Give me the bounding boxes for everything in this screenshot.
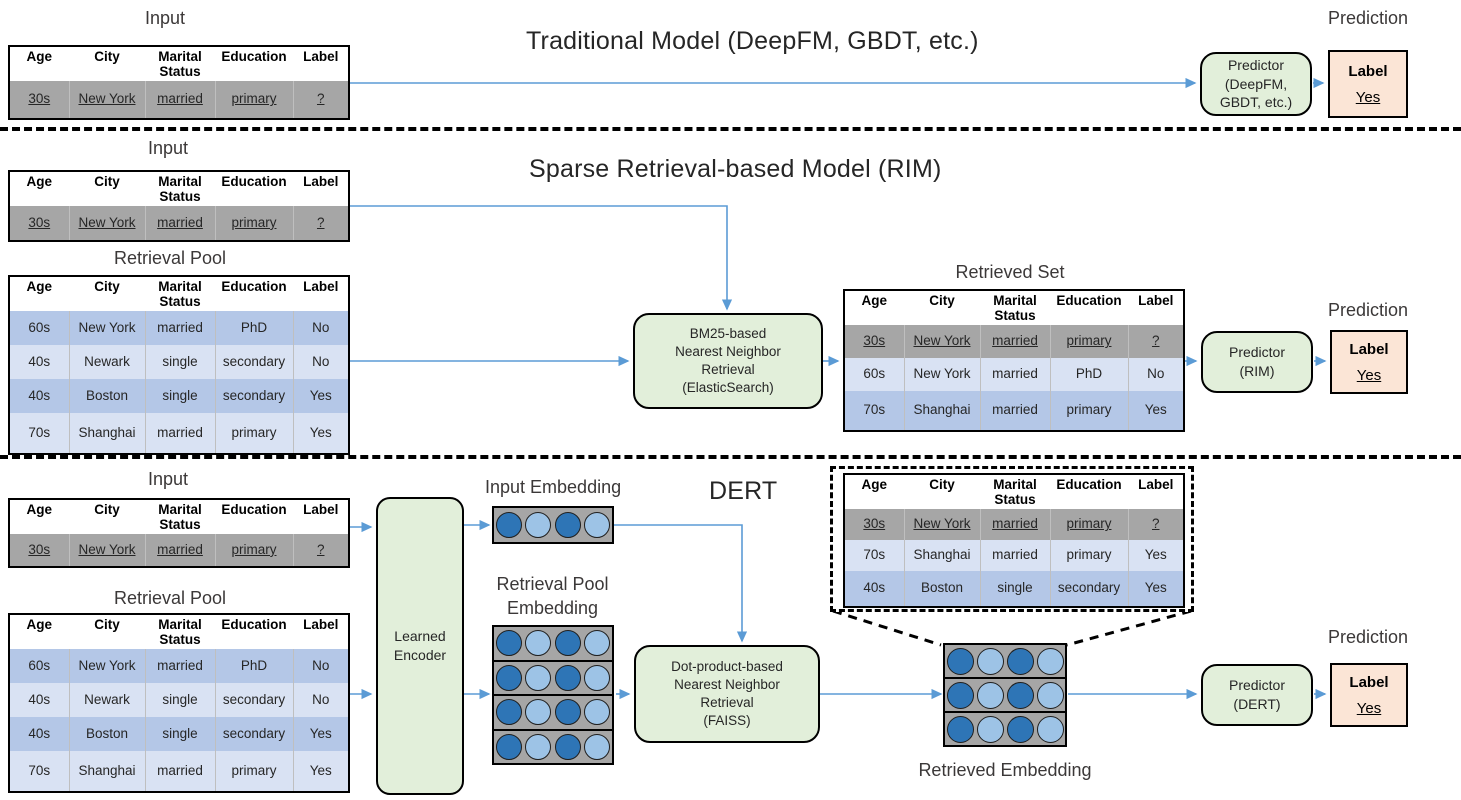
cell-age: 40s: [9, 379, 69, 413]
prediction-value: Yes: [1356, 89, 1380, 106]
cell-marital: single: [145, 345, 215, 379]
table-row: 40s Newark single secondary No: [9, 683, 349, 717]
cell-marital: single: [145, 717, 215, 751]
table-row: 40s Boston single secondary Yes: [844, 571, 1184, 607]
prediction-label-title: Label: [1348, 63, 1387, 80]
col-header-marital-status: MaritalStatus: [145, 171, 215, 206]
table-row: 70s Shanghai married primary Yes: [844, 391, 1184, 431]
col-header-marital-status: MaritalStatus: [145, 276, 215, 311]
embedding-dot-dark: [496, 734, 522, 760]
embedding-dot-dark: [1007, 716, 1034, 743]
caption-retrieved-set: Retrieved Set: [940, 262, 1080, 283]
embedding-dot-dark: [1007, 648, 1034, 675]
col-header-city: City: [69, 46, 145, 81]
embedding-dot-dark: [1007, 682, 1034, 709]
col-header-city: City: [904, 474, 980, 509]
cell-marital: married: [980, 540, 1050, 571]
cell-city: New York: [69, 534, 145, 567]
retriever-line4: (FAISS): [703, 713, 750, 728]
cell-city: New York: [904, 358, 980, 391]
cell-city: New York: [69, 311, 145, 345]
cell-marital: single: [145, 683, 215, 717]
section-divider-1: [0, 127, 1461, 131]
predictor-line2: (DERT): [1233, 696, 1280, 712]
encoder-line2: Encoder: [394, 647, 446, 663]
encoder-line1: Learned: [394, 628, 445, 644]
cell-education: PhD: [1050, 358, 1128, 391]
embedding-dot-light: [584, 665, 610, 691]
col-header-education: Education: [215, 614, 293, 649]
cell-marital: married: [145, 206, 215, 241]
embedding-dot-dark: [555, 512, 581, 538]
cell-label: ?: [293, 206, 349, 241]
cell-label: Yes: [293, 379, 349, 413]
cell-education: secondary: [215, 717, 293, 751]
cell-education: secondary: [215, 683, 293, 717]
pool-embedding-line1: Retrieval Pool: [485, 572, 620, 596]
cell-label: Yes: [1128, 391, 1184, 431]
embedding-dot-dark: [947, 716, 974, 743]
cell-label: No: [293, 345, 349, 379]
cell-education: primary: [1050, 325, 1128, 358]
prediction-label-title: Label: [1349, 674, 1388, 691]
cell-city: Shanghai: [904, 391, 980, 431]
cell-label: No: [293, 683, 349, 717]
cell-age: 30s: [9, 206, 69, 241]
retriever-line2: Nearest Neighbor: [675, 344, 781, 359]
retrieval-pool-embedding-block: [492, 625, 614, 765]
cell-label: Yes: [1128, 571, 1184, 607]
embedding-dot-dark: [947, 648, 974, 675]
retriever-line1: BM25-based: [690, 326, 767, 341]
cell-education: primary: [215, 534, 293, 567]
caption-prediction-dert: Prediction: [1318, 627, 1418, 648]
prediction-value: Yes: [1357, 700, 1381, 717]
cell-age: 40s: [844, 571, 904, 607]
retriever-line4: (ElasticSearch): [682, 380, 774, 395]
col-header-label: Label: [293, 171, 349, 206]
caption-prediction-traditional: Prediction: [1318, 8, 1418, 29]
cell-city: Boston: [69, 379, 145, 413]
col-header-label: Label: [293, 614, 349, 649]
table-row-query: 30s New York married primary ?: [9, 534, 349, 567]
embedding-dot-dark: [947, 682, 974, 709]
cell-education: primary: [1050, 540, 1128, 571]
col-header-age: Age: [9, 614, 69, 649]
embedding-row: [945, 645, 1065, 679]
table-row-query: 30s New York married primary ?: [9, 206, 349, 241]
retrieved-embedding-block: [943, 643, 1067, 747]
embedding-dot-light: [584, 512, 610, 538]
embedding-dot-light: [977, 716, 1004, 743]
embedding-row: [945, 713, 1065, 745]
caption-input-dert: Input: [133, 469, 203, 490]
embedding-dot-light: [525, 665, 551, 691]
input-table-dert: Age City MaritalStatus Education Label 3…: [8, 498, 350, 568]
retriever-line3: Retrieval: [701, 362, 754, 377]
cell-education: primary: [215, 751, 293, 792]
cell-city: New York: [904, 325, 980, 358]
embedding-dot-dark: [555, 665, 581, 691]
col-header-marital-status: MaritalStatus: [980, 290, 1050, 325]
cell-city: Newark: [69, 683, 145, 717]
input-table-sparse: Age City MaritalStatus Education Label 3…: [8, 170, 350, 242]
predictor-rim[interactable]: Predictor (RIM): [1201, 331, 1313, 393]
cell-age: 60s: [844, 358, 904, 391]
cell-age: 40s: [9, 345, 69, 379]
cell-education: primary: [1050, 391, 1128, 431]
cell-education: PhD: [215, 311, 293, 345]
cell-marital: married: [145, 534, 215, 567]
embedding-dot-light: [525, 699, 551, 725]
caption-retrieval-pool-dert: Retrieval Pool: [100, 588, 240, 609]
table-row-query: 30s New York married primary ?: [9, 81, 349, 119]
retriever-line1: Dot-product-based: [671, 659, 783, 674]
cell-marital: married: [145, 81, 215, 119]
col-header-education: Education: [215, 46, 293, 81]
cell-label: No: [293, 649, 349, 683]
prediction-value: Yes: [1357, 367, 1381, 384]
col-header-age: Age: [844, 474, 904, 509]
retriever-line2: Nearest Neighbor: [674, 677, 780, 692]
caption-pool-embedding: Retrieval Pool Embedding: [485, 572, 620, 621]
cell-city: Shanghai: [69, 751, 145, 792]
col-header-marital-status: MaritalStatus: [145, 46, 215, 81]
cell-education: primary: [215, 206, 293, 241]
cell-age: 70s: [844, 540, 904, 571]
embedding-dot-light: [1037, 648, 1064, 675]
cell-age: 60s: [9, 311, 69, 345]
cell-age: 30s: [844, 509, 904, 540]
prediction-label-title: Label: [1349, 341, 1388, 358]
table-row: 40s Newark single secondary No: [9, 345, 349, 379]
embedding-dot-dark: [496, 630, 522, 656]
predictor-line2: (DeepFM,: [1225, 76, 1287, 92]
section-title-traditional: Traditional Model (DeepFM, GBDT, etc.): [526, 27, 979, 56]
embedding-dot-light: [584, 699, 610, 725]
prediction-box-dert: Label Yes: [1330, 663, 1408, 727]
cell-label: Yes: [1128, 540, 1184, 571]
col-header-city: City: [904, 290, 980, 325]
cell-city: Newark: [69, 345, 145, 379]
predictor-line2: (RIM): [1240, 363, 1275, 379]
cell-education: secondary: [1050, 571, 1128, 607]
embedding-dot-light: [525, 512, 551, 538]
cell-label: Yes: [293, 717, 349, 751]
cell-education: primary: [1050, 509, 1128, 540]
embedding-dot-light: [1037, 682, 1064, 709]
cell-marital: married: [980, 391, 1050, 431]
section-divider-2: [0, 455, 1461, 459]
col-header-city: City: [69, 614, 145, 649]
cell-city: Boston: [69, 717, 145, 751]
cell-city: Shanghai: [904, 540, 980, 571]
table-row: 60s New York married PhD No: [844, 358, 1184, 391]
table-row-query: 30s New York married primary ?: [844, 325, 1184, 358]
embedding-dot-light: [977, 648, 1004, 675]
col-header-label: Label: [293, 276, 349, 311]
col-header-age: Age: [9, 171, 69, 206]
col-header-age: Age: [9, 276, 69, 311]
col-header-education: Education: [215, 276, 293, 311]
embedding-dot-dark: [496, 512, 522, 538]
caption-retrieved-embedding: Retrieved Embedding: [895, 760, 1115, 781]
cell-label: Yes: [293, 751, 349, 792]
table-row: 40s Boston single secondary Yes: [9, 379, 349, 413]
cell-age: 30s: [9, 534, 69, 567]
input-embedding-block: [492, 506, 614, 544]
col-header-age: Age: [844, 290, 904, 325]
col-header-age: Age: [9, 499, 69, 534]
caption-input-embedding: Input Embedding: [485, 477, 620, 498]
table-row: 70s Shanghai married primary Yes: [9, 751, 349, 792]
section-title-dert: DERT: [709, 477, 777, 506]
table-row: 60s New York married PhD No: [9, 649, 349, 683]
cell-education: primary: [215, 81, 293, 119]
prediction-box-rim: Label Yes: [1330, 330, 1408, 394]
prediction-box-traditional: Label Yes: [1328, 50, 1408, 118]
cell-label: ?: [1128, 509, 1184, 540]
cell-age: 70s: [9, 751, 69, 792]
embedding-dot-dark: [496, 665, 522, 691]
embedding-dot-light: [584, 630, 610, 656]
cell-city: New York: [904, 509, 980, 540]
cell-marital: single: [980, 571, 1050, 607]
embedding-dot-dark: [555, 699, 581, 725]
embedding-dot-dark: [555, 630, 581, 656]
input-table-traditional: Age City MaritalStatus Education Label 3…: [8, 45, 350, 120]
col-header-age: Age: [9, 46, 69, 81]
table-row: 40s Boston single secondary Yes: [9, 717, 349, 751]
embedding-row: [494, 696, 612, 731]
cell-age: 30s: [844, 325, 904, 358]
col-header-label: Label: [293, 499, 349, 534]
cell-marital: married: [145, 311, 215, 345]
embedding-dot-light: [977, 682, 1004, 709]
pool-embedding-line2: Embedding: [485, 596, 620, 620]
table-row-query: 30s New York married primary ?: [844, 509, 1184, 540]
col-header-education: Education: [215, 171, 293, 206]
cell-education: secondary: [215, 379, 293, 413]
cell-label: No: [1128, 358, 1184, 391]
embedding-dot-light: [1037, 716, 1064, 743]
predictor-traditional[interactable]: Predictor (DeepFM, GBDT, etc.): [1200, 52, 1312, 116]
col-header-label: Label: [1128, 290, 1184, 325]
predictor-line1: Predictor: [1229, 677, 1285, 693]
embedding-row: [494, 627, 612, 662]
col-header-marital-status: MaritalStatus: [145, 614, 215, 649]
col-header-city: City: [69, 171, 145, 206]
predictor-line1: Predictor: [1229, 344, 1285, 360]
cell-city: New York: [69, 649, 145, 683]
predictor-dert[interactable]: Predictor (DERT): [1201, 664, 1313, 726]
cell-city: New York: [69, 81, 145, 119]
table-row: 70s Shanghai married primary Yes: [844, 540, 1184, 571]
cell-age: 40s: [9, 683, 69, 717]
embedding-dot-light: [584, 734, 610, 760]
col-header-education: Education: [215, 499, 293, 534]
caption-retrieval-pool-sparse: Retrieval Pool: [100, 248, 240, 269]
cell-marital: married: [145, 413, 215, 454]
retrieved-set-table-dert: Age City MaritalStatus Education Label 3…: [843, 473, 1185, 608]
predictor-line3: GBDT, etc.): [1220, 94, 1292, 110]
retrieved-set-table: Age City MaritalStatus Education Label 3…: [843, 289, 1185, 432]
retriever-line3: Retrieval: [700, 695, 753, 710]
col-header-marital-status: MaritalStatus: [980, 474, 1050, 509]
cell-education: PhD: [215, 649, 293, 683]
caption-input-sparse: Input: [133, 138, 203, 159]
col-header-label: Label: [1128, 474, 1184, 509]
cell-age: 70s: [9, 413, 69, 454]
cell-label: ?: [293, 81, 349, 119]
cell-label: ?: [293, 534, 349, 567]
cell-city: Boston: [904, 571, 980, 607]
cell-age: 30s: [9, 81, 69, 119]
embedding-row: [494, 731, 612, 764]
cell-age: 60s: [9, 649, 69, 683]
cell-city: Shanghai: [69, 413, 145, 454]
embedding-dot-dark: [496, 699, 522, 725]
cell-education: secondary: [215, 345, 293, 379]
faiss-retriever-box[interactable]: Dot-product-based Nearest Neighbor Retri…: [634, 645, 820, 743]
embedding-row: [945, 679, 1065, 713]
cell-age: 70s: [844, 391, 904, 431]
col-header-education: Education: [1050, 290, 1128, 325]
cell-marital: married: [980, 358, 1050, 391]
cell-label: ?: [1128, 325, 1184, 358]
caption-input-traditional: Input: [130, 8, 200, 29]
retrieval-pool-table-sparse: Age City MaritalStatus Education Label 6…: [8, 275, 350, 455]
col-header-city: City: [69, 499, 145, 534]
table-row: 60s New York married PhD No: [9, 311, 349, 345]
col-header-marital-status: MaritalStatus: [145, 499, 215, 534]
embedding-row: [494, 662, 612, 697]
col-header-label: Label: [293, 46, 349, 81]
cell-city: New York: [69, 206, 145, 241]
predictor-line1: Predictor: [1228, 57, 1284, 73]
embedding-dot-light: [525, 734, 551, 760]
table-row: 70s Shanghai married primary Yes: [9, 413, 349, 454]
col-header-education: Education: [1050, 474, 1128, 509]
embedding-dot-dark: [555, 734, 581, 760]
cell-label: No: [293, 311, 349, 345]
cell-marital: married: [980, 325, 1050, 358]
cell-marital: single: [145, 379, 215, 413]
cell-age: 40s: [9, 717, 69, 751]
cell-education: primary: [215, 413, 293, 454]
caption-prediction-sparse: Prediction: [1318, 300, 1418, 321]
cell-marital: married: [145, 649, 215, 683]
bm25-retriever-box[interactable]: BM25-based Nearest Neighbor Retrieval (E…: [633, 313, 823, 409]
learned-encoder-box[interactable]: Learned Encoder: [376, 497, 464, 795]
cell-label: Yes: [293, 413, 349, 454]
cell-marital: married: [145, 751, 215, 792]
retrieval-pool-table-dert: Age City MaritalStatus Education Label 6…: [8, 613, 350, 793]
embedding-dot-light: [525, 630, 551, 656]
embedding-row: [494, 508, 612, 542]
section-title-sparse: Sparse Retrieval-based Model (RIM): [529, 155, 942, 184]
col-header-city: City: [69, 276, 145, 311]
cell-marital: married: [980, 509, 1050, 540]
